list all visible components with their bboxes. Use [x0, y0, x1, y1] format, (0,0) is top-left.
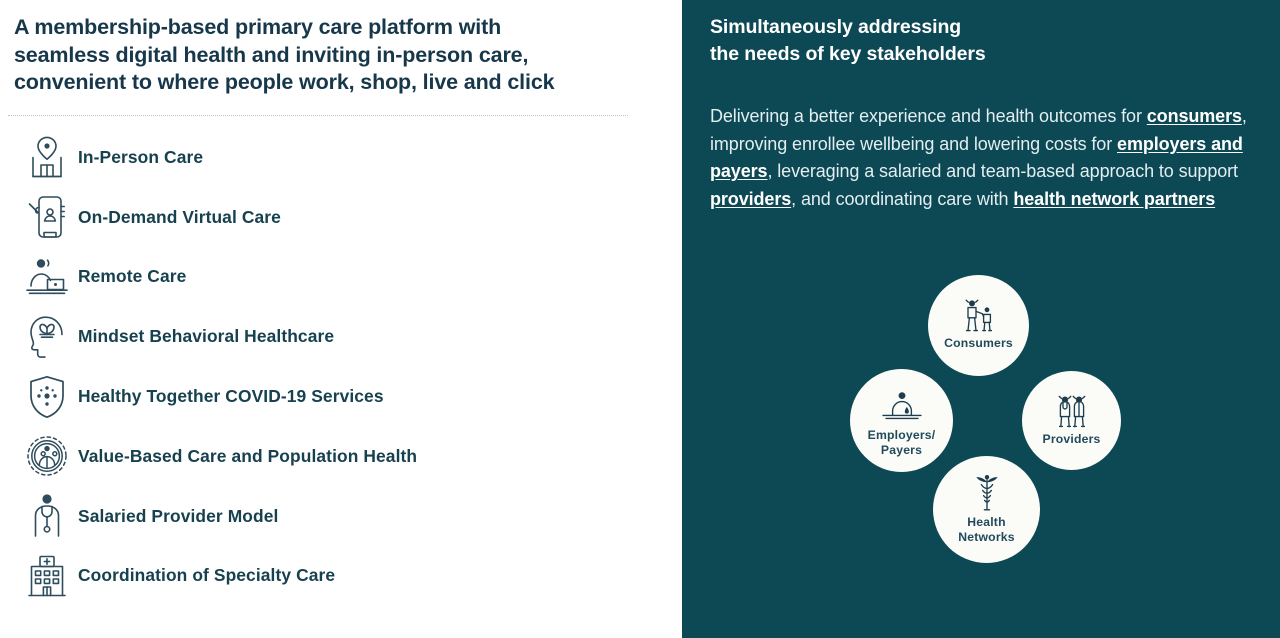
page-title-line-1: A membership-based primary care platform…: [14, 14, 660, 42]
people-gear-circle-icon: [16, 430, 78, 482]
page-title-line-3: convenient to where people work, shop, l…: [14, 69, 660, 97]
list-item[interactable]: Value-Based Care and Population Health: [0, 426, 682, 486]
body-segment: , leveraging a salaried and team-based a…: [767, 161, 1238, 181]
two-clinicians-icon: [1052, 385, 1092, 429]
doctor-stethoscope-icon: [16, 490, 78, 542]
right-panel: Simultaneously addressing the needs of k…: [682, 0, 1280, 638]
list-item[interactable]: Mindset Behavioral Healthcare: [0, 307, 682, 367]
body-emphasis-consumers: consumers: [1147, 106, 1242, 126]
list-item[interactable]: Coordination of Specialty Care: [0, 546, 682, 606]
shield-virus-icon: [16, 371, 78, 423]
page-title: A membership-based primary care platform…: [0, 14, 682, 97]
head-butterfly-icon: [16, 311, 78, 363]
caduceus-icon: [970, 468, 1004, 512]
stakeholder-label: Health Networks: [958, 515, 1014, 544]
list-item-label: Healthy Together COVID-19 Services: [78, 386, 384, 407]
stakeholder-label: Employers/ Payers: [868, 428, 936, 457]
list-item[interactable]: On-Demand Virtual Care: [0, 187, 682, 247]
right-panel-title: Simultaneously addressing the needs of k…: [710, 14, 1252, 68]
right-panel-title-line-1: Simultaneously addressing: [710, 14, 1252, 41]
stakeholder-label: Consumers: [944, 336, 1013, 351]
list-item-label: On-Demand Virtual Care: [78, 207, 281, 228]
left-panel: A membership-based primary care platform…: [0, 0, 682, 638]
adult-child-family-icon: [958, 289, 1000, 333]
page-title-line-2: seamless digital health and inviting in-…: [14, 42, 660, 70]
stakeholder-bubble-providers[interactable]: Providers: [1022, 371, 1121, 470]
slide-root: A membership-based primary care platform…: [0, 0, 1280, 638]
list-item-label: Coordination of Specialty Care: [78, 565, 335, 586]
list-item[interactable]: Healthy Together COVID-19 Services: [0, 367, 682, 427]
body-emphasis-health-network-partners: health network partners: [1013, 189, 1215, 209]
body-segment: , and coordinating care with: [791, 189, 1013, 209]
stakeholder-bubble-consumers[interactable]: Consumers: [928, 275, 1029, 376]
smartphone-user-tap-icon: [16, 191, 78, 243]
list-item-label: In-Person Care: [78, 147, 203, 168]
map-pin-clinic-icon: [16, 131, 78, 183]
stakeholder-diagram: Consumers Employers/ Payers: [850, 275, 1130, 565]
list-item[interactable]: In-Person Care: [0, 128, 682, 188]
list-item[interactable]: Salaried Provider Model: [0, 486, 682, 546]
presenter-podium-icon: [879, 381, 925, 425]
person-laptop-icon: [16, 251, 78, 303]
services-list: In-Person Care On-Demand Virtual Care: [0, 128, 682, 606]
divider: [8, 115, 628, 116]
list-item-label: Mindset Behavioral Healthcare: [78, 326, 334, 347]
stakeholder-bubble-health-networks[interactable]: Health Networks: [933, 456, 1040, 563]
list-item-label: Salaried Provider Model: [78, 506, 278, 527]
body-emphasis-providers: providers: [710, 189, 791, 209]
hospital-building-icon: [16, 550, 78, 602]
list-item-label: Remote Care: [78, 266, 186, 287]
list-item[interactable]: Remote Care: [0, 247, 682, 307]
list-item-label: Value-Based Care and Population Health: [78, 446, 417, 467]
right-panel-body: Delivering a better experience and healt…: [710, 103, 1252, 213]
stakeholder-label: Providers: [1042, 432, 1100, 447]
right-panel-title-line-2: the needs of key stakeholders: [710, 41, 1252, 68]
stakeholder-bubble-employers-payers[interactable]: Employers/ Payers: [850, 369, 953, 472]
body-segment: Delivering a better experience and healt…: [710, 106, 1147, 126]
